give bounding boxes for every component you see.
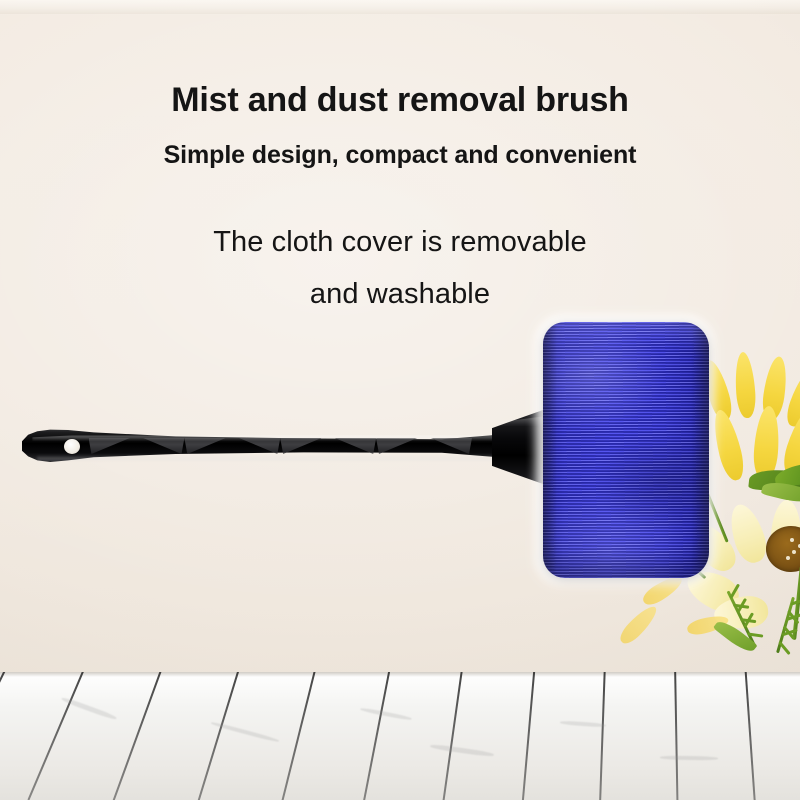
brush-handle	[22, 426, 534, 466]
plank-seam	[674, 672, 679, 800]
brush-product	[0, 0, 800, 676]
plank-seam	[112, 672, 165, 800]
pad-left-shadow	[543, 322, 557, 578]
handle-hanging-hole	[64, 439, 80, 454]
plank-seam	[599, 672, 606, 800]
wooden-plank-floor	[0, 672, 800, 800]
plank-seam	[361, 672, 392, 800]
floor-wall-joint	[0, 672, 800, 677]
pad-shading	[543, 322, 709, 578]
handle-lower-highlight	[37, 455, 523, 459]
pad-right-shadow	[691, 322, 709, 578]
plank-seam	[196, 672, 242, 800]
plank-seam	[27, 672, 87, 800]
handle-highlight	[32, 435, 534, 441]
plank-seam	[0, 672, 10, 797]
product-image-scene: Mist and dust removal brush Simple desig…	[0, 0, 800, 800]
plank-seam	[744, 672, 756, 800]
plank-seam	[521, 672, 536, 800]
plank-seam	[280, 672, 318, 800]
plank-seam	[441, 672, 464, 800]
microfiber-pad	[543, 322, 709, 578]
